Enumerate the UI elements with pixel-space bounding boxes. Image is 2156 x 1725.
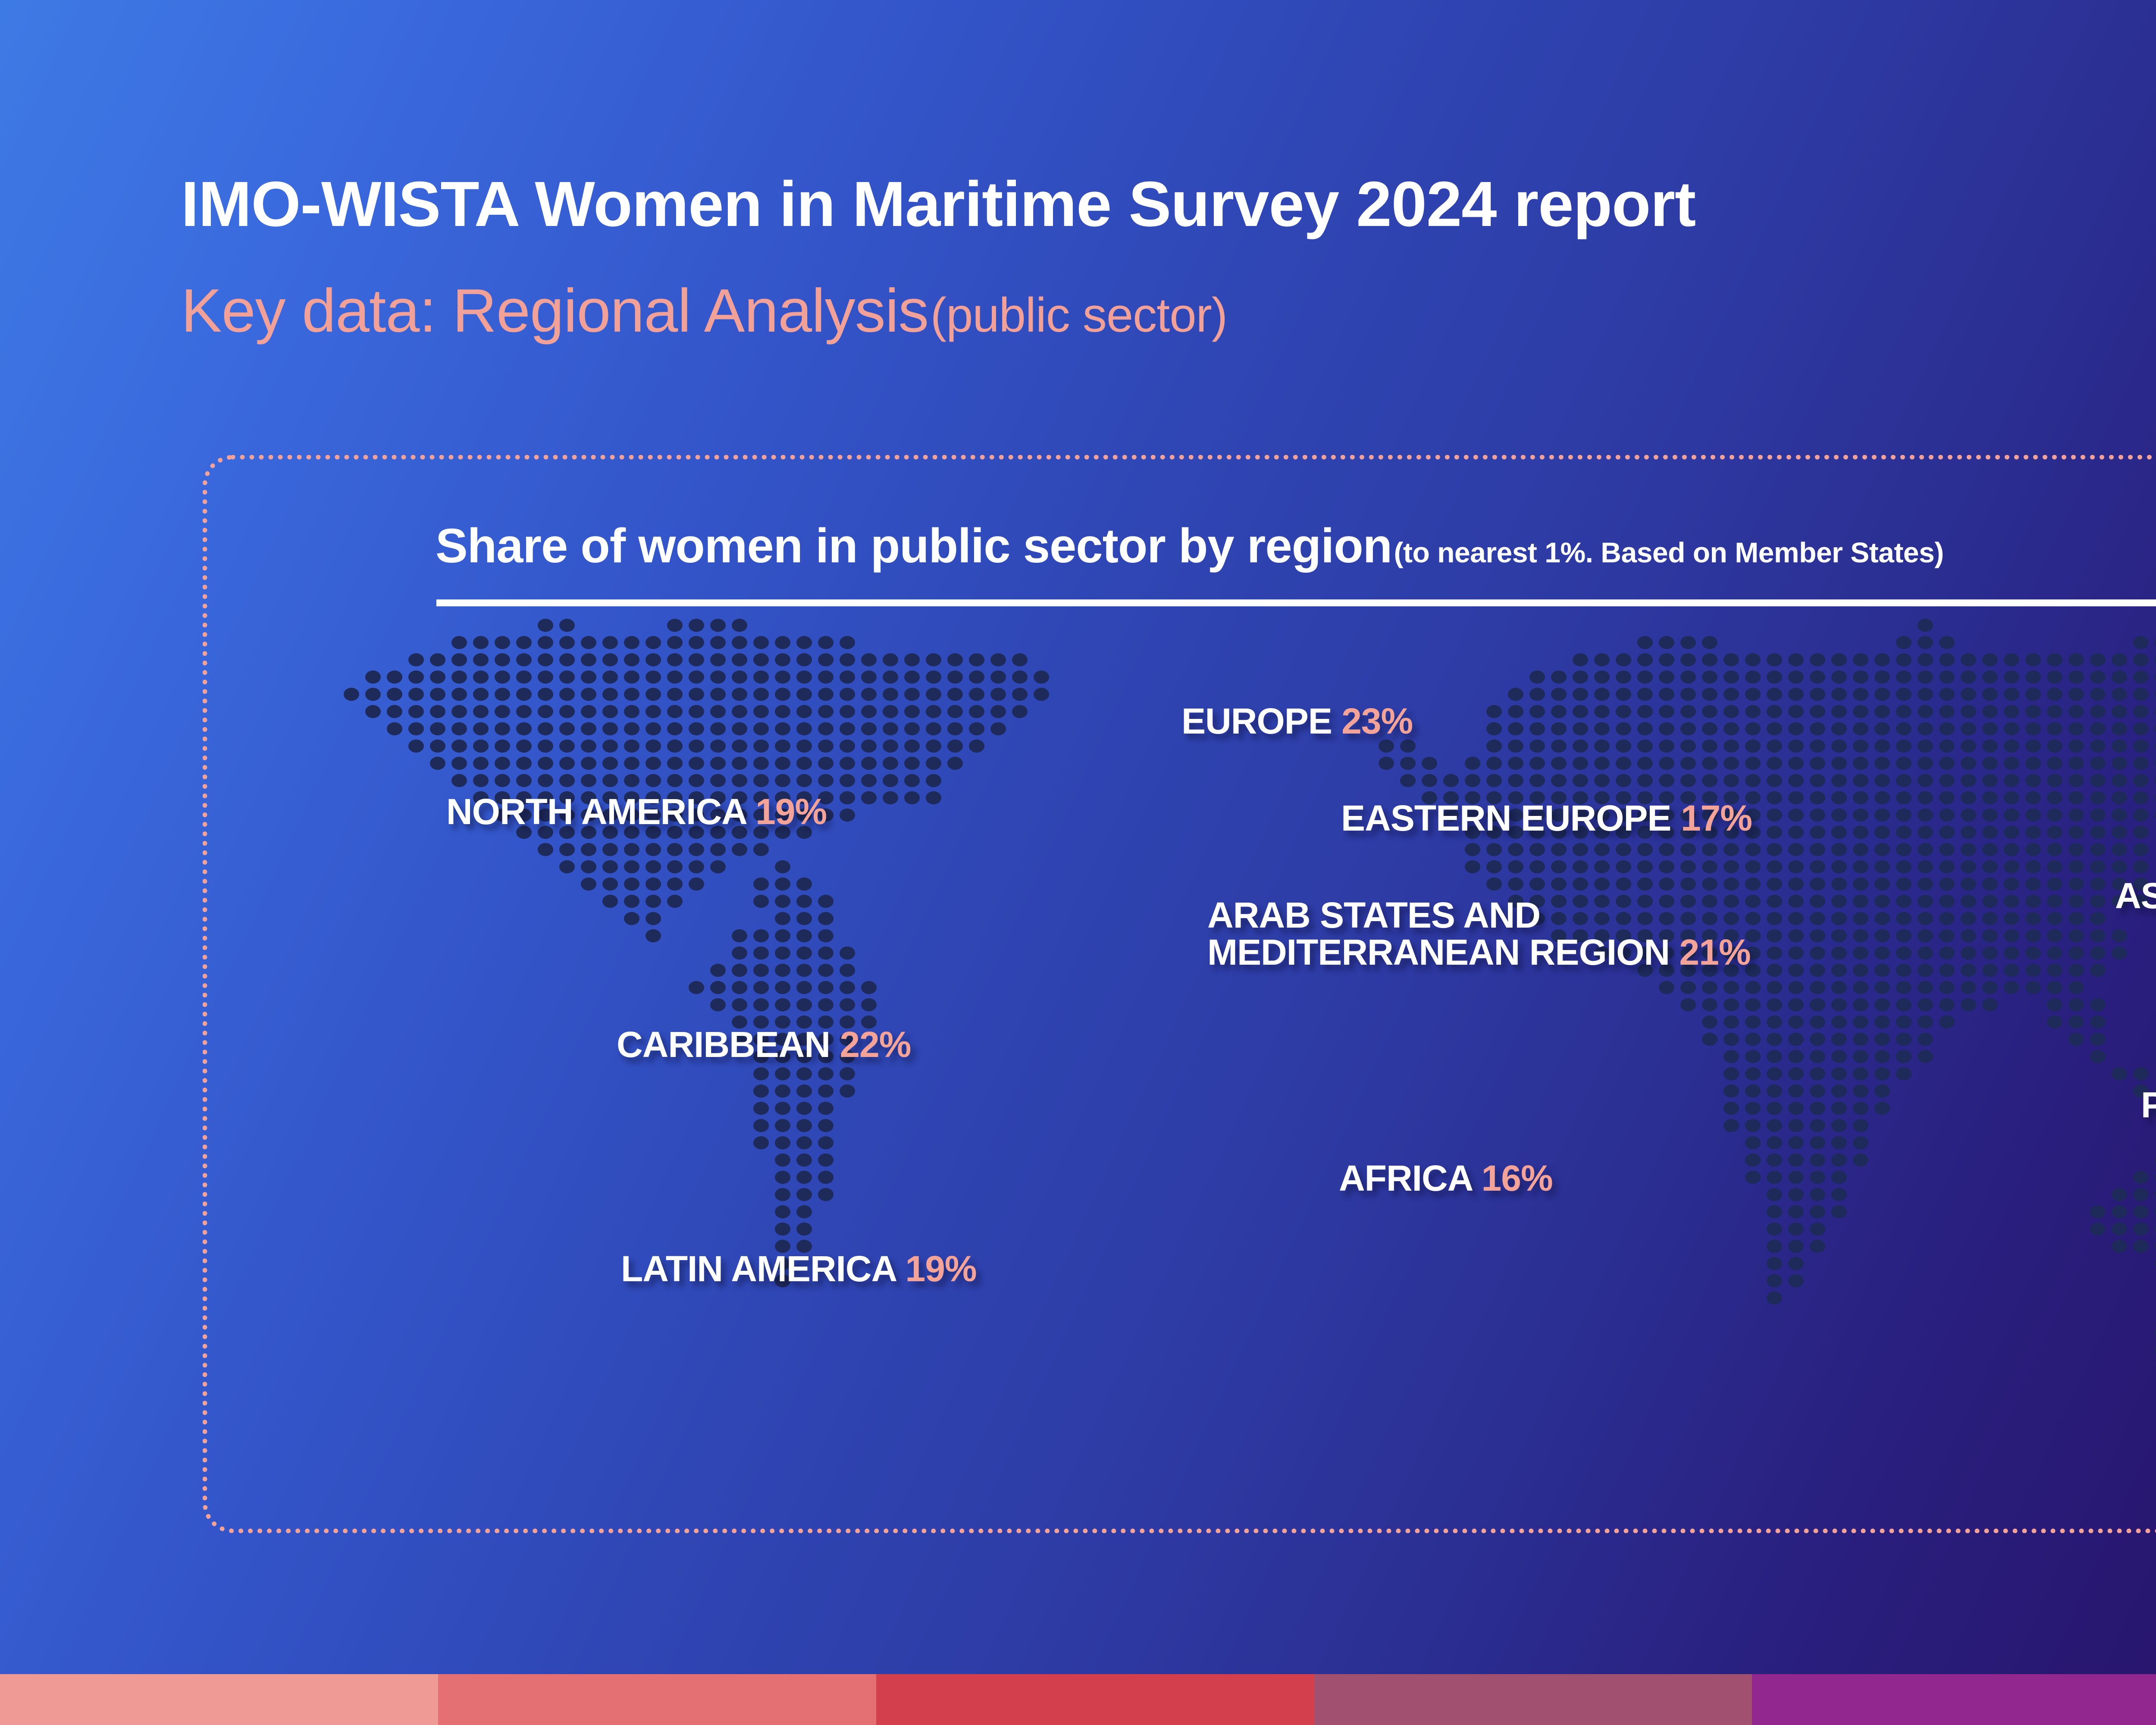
region-label-asia: ASIA 19% — [2115, 878, 2156, 915]
region-label-arab-states-mediterranean: ARAB STATES AND MEDITERRANEAN REGION 21% — [1207, 897, 1751, 971]
chart-title-underline — [436, 599, 2156, 606]
region-label-pacific: PACIFIC 25% — [2141, 1087, 2156, 1124]
region-name: EUROPE — [1181, 701, 1332, 741]
subtitle-paren: (public sector) — [931, 288, 1227, 342]
subtitle-main: Key data: Regional Analysis — [181, 276, 928, 345]
region-value: 16% — [1482, 1158, 1553, 1198]
region-label-caribbean: CARIBBEAN 22% — [617, 1026, 911, 1063]
region-value: 19% — [905, 1248, 976, 1289]
region-name-line-2: MEDITERRANEAN REGION 21% — [1207, 934, 1751, 971]
region-name: AFRICA — [1339, 1158, 1472, 1198]
region-label-north-america: NORTH AMERICA 19% — [446, 793, 827, 831]
world-map-dotted — [276, 617, 2156, 1479]
chart-title-note: (to nearest 1%. Based on Member States) — [1394, 536, 1943, 568]
region-name: PACIFIC — [2141, 1085, 2156, 1125]
world-map-svg — [276, 617, 2156, 1479]
chart-title-main: Share of women in public sector by regio… — [436, 519, 1392, 573]
region-value: 19% — [755, 791, 827, 832]
region-name: LATIN AMERICA — [621, 1248, 896, 1289]
chart-title: Share of women in public sector by regio… — [436, 522, 1944, 570]
region-value: 23% — [1341, 701, 1413, 741]
region-value: 17% — [1681, 798, 1752, 838]
bottom-color-strip — [0, 1674, 2156, 1725]
region-name: EASTERN EUROPE — [1341, 798, 1671, 838]
strip-swatch-5 — [1752, 1674, 2156, 1725]
region-label-europe: EUROPE 23% — [1181, 703, 1413, 740]
region-label-africa: AFRICA 16% — [1339, 1160, 1553, 1197]
page-subtitle: Key data: Regional Analysis (public sect… — [181, 280, 1227, 342]
region-label-eastern-europe: EASTERN EUROPE 17% — [1341, 800, 1752, 837]
region-value: 21% — [1679, 932, 1750, 972]
page-title: IMO-WISTA Women in Maritime Survey 2024 … — [181, 172, 1695, 236]
region-value: 22% — [840, 1024, 911, 1065]
strip-swatch-4 — [1314, 1674, 1752, 1725]
infographic-canvas: IMO-WISTA Women in Maritime Survey 2024 … — [0, 0, 2156, 1725]
region-name: ASIA — [2115, 875, 2156, 916]
strip-swatch-2 — [438, 1674, 876, 1725]
region-name: NORTH AMERICA — [446, 791, 746, 832]
region-label-latin-america: LATIN AMERICA 19% — [621, 1251, 977, 1288]
region-name: CARIBBEAN — [617, 1024, 830, 1065]
region-name-line-1: ARAB STATES AND — [1207, 897, 1751, 934]
strip-swatch-3 — [876, 1674, 1314, 1725]
strip-swatch-1 — [0, 1674, 438, 1725]
